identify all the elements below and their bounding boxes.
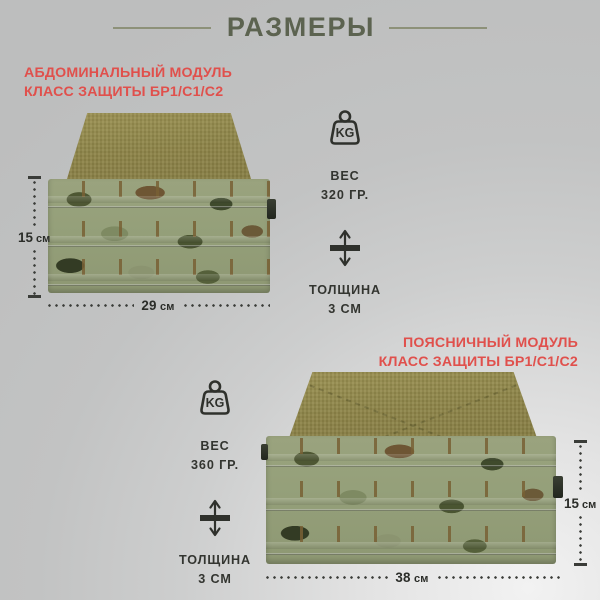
product-image-lumbar-module [266,372,556,564]
weight-kg-icon: KG [322,108,368,159]
dimension-width-label-1: 29 см [134,298,181,313]
side-pull-tab-2 [553,476,563,498]
infographic-canvas: РАЗМЕРЫ АБДОМИНАЛЬНЫЙ МОДУЛЬ КЛАСС ЗАЩИТ… [0,0,600,600]
spec-thickness-caption-1: ТОЛЩИНА 3 СМ [309,281,381,319]
product-1-title-line1: АБДОМИНАЛЬНЫЙ МОДУЛЬ [24,64,232,83]
camo-body-stack [48,179,270,293]
dimension-height-label-2: 15 см [564,493,596,514]
dimension-width-product-1: 29 см [46,298,270,313]
spec-thickness-product-2: ТОЛЩИНА 3 СМ [145,498,285,589]
title-rule-right [389,27,487,29]
weight-kg-icon: KG [192,378,238,429]
spec-weight-value-1: 320 ГР. [321,186,369,205]
spec-weight-product-2: KG ВЕС 360 ГР. [145,378,285,475]
spec-weight-caption-2: ВЕС 360 ГР. [191,437,239,475]
spec-thickness-product-1: ТОЛЩИНА 3 СМ [275,228,415,319]
dimension-width-product-2: 38 см [264,570,560,585]
dimension-height-product-2: 15 см [564,440,596,566]
product-image-abdominal-module [48,113,270,293]
title-rule-left [113,27,211,29]
svg-text:KG: KG [206,396,225,410]
product-2-title: ПОЯСНИЧНЫЙ МОДУЛЬ КЛАСС ЗАЩИТЫ БР1/С1/С2 [379,334,578,371]
product-2-title-line1: ПОЯСНИЧНЫЙ МОДУЛЬ [379,334,578,353]
thickness-icon [192,498,238,543]
spec-thickness-value-2: 3 СМ [179,570,251,589]
spec-weight-caption-1: ВЕС 320 ГР. [321,167,369,205]
dimension-height-product-1: 15 см [18,176,50,298]
product-1-title-line2: КЛАСС ЗАЩИТЫ БР1/С1/С2 [24,83,232,102]
page-header: РАЗМЕРЫ [0,14,600,41]
dimension-height-label-1: 15 см [18,227,50,248]
spec-weight-value-2: 360 ГР. [191,456,239,475]
product-2-title-line2: КЛАСС ЗАЩИТЫ БР1/С1/С2 [379,353,578,372]
page-title: РАЗМЕРЫ [227,14,375,41]
spec-weight-product-1: KG ВЕС 320 ГР. [275,108,415,205]
spec-thickness-caption-2: ТОЛЩИНА 3 СМ [179,551,251,589]
dimension-width-label-2: 38 см [388,570,435,585]
product-1-title: АБДОМИНАЛЬНЫЙ МОДУЛЬ КЛАСС ЗАЩИТЫ БР1/С1… [24,64,232,101]
thickness-icon [322,228,368,273]
svg-text:KG: KG [336,126,355,140]
spec-thickness-value-1: 3 СМ [309,300,381,319]
camo-body-stack-2 [266,436,556,564]
